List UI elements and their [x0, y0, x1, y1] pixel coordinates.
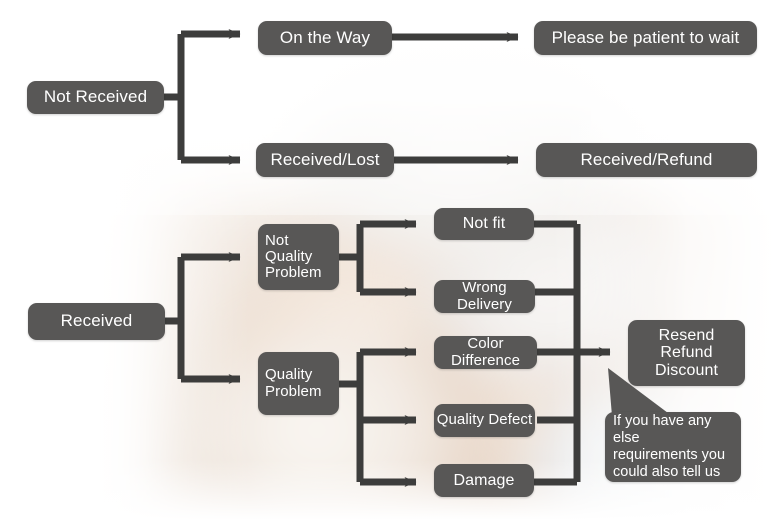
node-not-fit[interactable]: Not fit: [434, 208, 534, 240]
node-not-received[interactable]: Not Received: [27, 81, 164, 114]
node-not-quality-problem[interactable]: Not Quality Problem: [258, 224, 339, 290]
callout-extra-requirements[interactable]: If you have any else requirements you co…: [605, 412, 741, 482]
node-quality-defect[interactable]: Quality Defect: [434, 404, 535, 437]
node-received-lost[interactable]: Received/Lost: [256, 143, 394, 177]
node-color-difference[interactable]: Color Difference: [434, 336, 537, 369]
node-wrong-delivery[interactable]: Wrong Delivery: [434, 280, 535, 313]
node-quality-problem[interactable]: Quality Problem: [258, 352, 339, 415]
node-damage[interactable]: Damage: [434, 464, 534, 497]
node-resend-refund-discount[interactable]: Resend Refund Discount: [628, 320, 745, 386]
node-received-refund[interactable]: Received/Refund: [536, 143, 757, 177]
node-please-be-patient[interactable]: Please be patient to wait: [534, 21, 757, 55]
node-received[interactable]: Received: [28, 303, 165, 340]
node-on-the-way[interactable]: On the Way: [258, 21, 392, 55]
flowchart-canvas: Not Received On the Way Please be patien…: [0, 0, 780, 520]
